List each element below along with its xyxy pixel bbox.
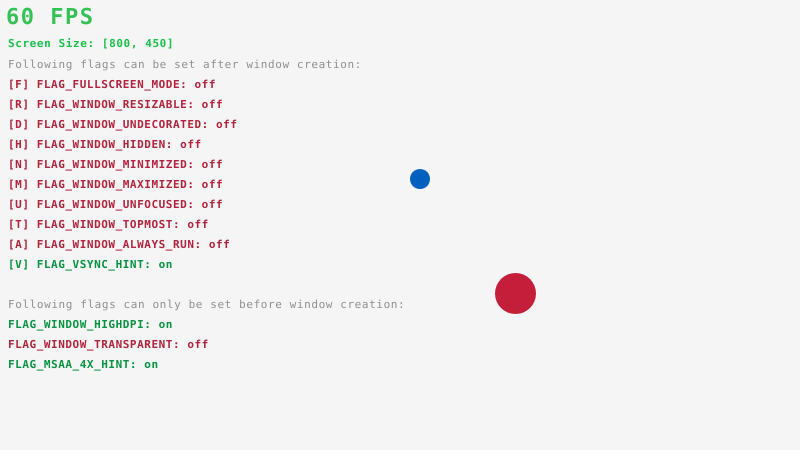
raylib-window-canvas: 60 FPS Screen Size: [800, 450] Following… xyxy=(0,0,800,450)
flag-row-fullscreen-mode[interactable]: [F] FLAG_FULLSCREEN_MODE: off xyxy=(8,79,216,90)
flag-row-window-highdpi: FLAG_WINDOW_HIGHDPI: on xyxy=(8,319,173,330)
flag-row-window-always-run[interactable]: [A] FLAG_WINDOW_ALWAYS_RUN: off xyxy=(8,239,230,250)
flag-row-msaa-4x-hint: FLAG_MSAA_4X_HINT: on xyxy=(8,359,159,370)
flag-row-window-unfocused[interactable]: [U] FLAG_WINDOW_UNFOCUSED: off xyxy=(8,199,223,210)
flag-row-window-maximized[interactable]: [M] FLAG_WINDOW_MAXIMIZED: off xyxy=(8,179,223,190)
fps-counter: 60 FPS xyxy=(6,7,94,29)
post-creation-section-header: Following flags can be set after window … xyxy=(8,59,362,70)
red-circle-shape xyxy=(495,273,536,314)
flag-row-window-minimized[interactable]: [N] FLAG_WINDOW_MINIMIZED: off xyxy=(8,159,223,170)
flag-row-window-topmost[interactable]: [T] FLAG_WINDOW_TOPMOST: off xyxy=(8,219,209,230)
flag-row-window-hidden[interactable]: [H] FLAG_WINDOW_HIDDEN: off xyxy=(8,139,202,150)
flag-row-window-undecorated[interactable]: [D] FLAG_WINDOW_UNDECORATED: off xyxy=(8,119,238,130)
flag-row-window-transparent: FLAG_WINDOW_TRANSPARENT: off xyxy=(8,339,209,350)
pre-creation-section-header: Following flags can only be set before w… xyxy=(8,299,405,310)
flag-row-window-resizable[interactable]: [R] FLAG_WINDOW_RESIZABLE: off xyxy=(8,99,223,110)
screen-size-label: Screen Size: [800, 450] xyxy=(8,38,174,49)
blue-circle-shape xyxy=(410,169,430,189)
flag-row-vsync-hint[interactable]: [V] FLAG_VSYNC_HINT: on xyxy=(8,259,173,270)
